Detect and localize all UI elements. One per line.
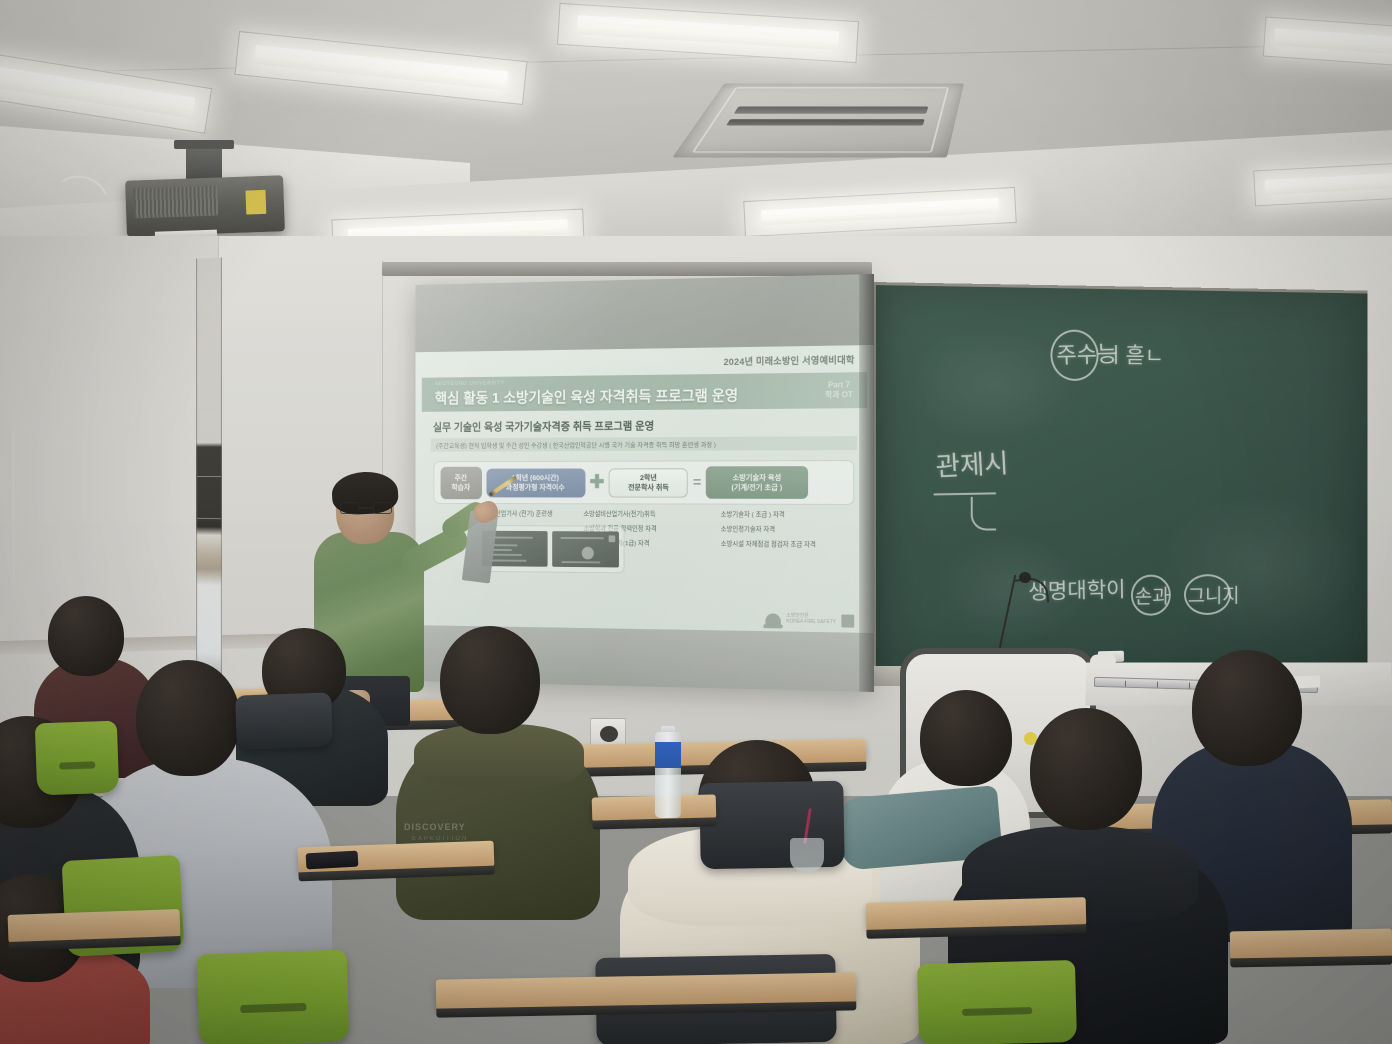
projector-warning-label xyxy=(245,190,266,215)
hoodie-print: DISCOVERY xyxy=(404,822,534,833)
ceiling-projector xyxy=(125,175,285,236)
student-head xyxy=(1192,650,1302,766)
chair-dark-1 xyxy=(235,692,333,749)
flow-box-outcome-line1: 소방기술자 육성 xyxy=(731,473,782,482)
classroom-photo: 관제시 주수능 ㅣ흗ㄴ 생명대학이 손과 그니지 2024년 미래소방인 서영예… xyxy=(0,0,1392,1044)
chair-left-1 xyxy=(35,721,119,796)
chair-left-3 xyxy=(196,949,349,1044)
student-head xyxy=(48,596,124,676)
logo-text: 소방안전원 KOREA FIRE SAFETY xyxy=(786,614,836,626)
desk-front-right xyxy=(866,897,1087,931)
desk-front-mid xyxy=(436,972,856,1009)
slide-title-prefix: 핵심 활동 1 xyxy=(435,391,500,408)
student-head xyxy=(1030,708,1142,830)
slide-note-strip: (주간교육생) 현직 입학생 및 주간 성인 수강생 ( 한국산업인력공단 시행… xyxy=(431,436,857,452)
slide-title: 핵심 활동 1 소방기술인 육성 자격취득 프로그램 운영 xyxy=(435,385,738,408)
flow-box-year2-line2: 전문학사 취득 xyxy=(628,483,669,492)
slide-subheading: 실무 기술인 육성 국가기술자격증 취득 프로그램 운영 xyxy=(433,417,654,434)
detail-column-3: 소방기술자 ( 초급 ) 자격 소방인정기술자 자격 소방시설 자체점검 점검자… xyxy=(721,510,855,569)
slide-university-tag: SEOYEONG UNIVERSITY xyxy=(435,381,505,388)
equals-icon: = xyxy=(693,475,701,490)
flow-box-year1: 1학년 (600시간) 과정평가형 자격이수 xyxy=(486,468,585,497)
slide-header-text: 2024년 미래소방인 서영예비대학 xyxy=(724,353,855,369)
flow-box-year2-line1: 2학년 xyxy=(628,474,669,483)
slide-part-line2: 학과 OT xyxy=(825,391,853,401)
thumbnail-image-2 xyxy=(552,531,619,567)
bottle-label xyxy=(655,742,681,768)
slide-title-main: 소방기술인 육성 자격취득 프로그램 운영 xyxy=(503,388,738,407)
slide-footer-logos: 소방안전원 KOREA FIRE SAFETY xyxy=(765,613,855,627)
detail-line: 소방인정기술자 자격 xyxy=(721,525,855,536)
chalk-note-2b: ㅣ흗ㄴ xyxy=(1106,338,1164,370)
student-head xyxy=(136,660,240,776)
smartphone-on-desk[interactable] xyxy=(306,851,359,870)
chalk-note-5: 그니지 xyxy=(1188,580,1240,609)
slide-flow-diagram: 주간 학습자 1학년 (600시간) 과정평가형 자격이수 ✚ 2학년 xyxy=(433,460,855,505)
student-head xyxy=(440,626,540,734)
slide-screenshot-thumbnails xyxy=(477,525,625,573)
chalk-note-4: 손과 xyxy=(1135,580,1170,609)
desk-right-far xyxy=(1230,929,1392,960)
flow-box-learner-line2: 학습자 xyxy=(451,483,470,492)
logo-text-line2: KOREA FIRE SAFETY xyxy=(786,620,836,627)
chalk-note-1: 관제시 xyxy=(934,442,1009,484)
chair-right-1 xyxy=(917,960,1077,1044)
slide-title-bar: SEOYEONG UNIVERSITY 핵심 활동 1 소방기술인 육성 자격취… xyxy=(422,373,867,413)
flow-box-year1-line2: 과정평가형 자격이수 xyxy=(506,483,565,492)
desk-front-left xyxy=(8,909,181,943)
safety-helmet-icon xyxy=(765,614,780,626)
detail-line: 소방기술자 ( 초급 ) 자격 xyxy=(721,510,855,520)
blind-cord xyxy=(13,430,14,580)
flow-box-learner: 주간 학습자 xyxy=(440,467,481,499)
eyeglasses-icon xyxy=(340,502,392,514)
slide-part-badge: Part 7 학과 OT xyxy=(825,381,853,401)
student-head xyxy=(920,690,1012,786)
presentation-slide: 2024년 미래소방인 서영예비대학 SEOYEONG UNIVERSITY 핵… xyxy=(416,345,874,633)
slide-part-line1: Part 7 xyxy=(825,381,853,391)
desk-mid-right xyxy=(592,794,717,821)
detail-line: 소방시설 자체점검 점검자 초급 자격 xyxy=(721,540,855,551)
flow-box-year2: 2학년 전문학사 취득 xyxy=(609,468,688,497)
detail-line: 소방설비산업기사(전기)취득 xyxy=(583,510,713,520)
partner-logo-icon xyxy=(842,614,855,627)
plus-icon: ✚ xyxy=(590,474,605,492)
flow-box-learner-line1: 주간 xyxy=(451,474,470,483)
slide-note-text: (주간교육생) 현직 입학생 및 주간 성인 수강생 ( 한국산업인력공단 시행… xyxy=(436,439,716,450)
chalkboard: 관제시 주수능 ㅣ흗ㄴ 생명대학이 손과 그니지 xyxy=(872,282,1368,682)
window xyxy=(196,257,222,678)
iced-drink-cup xyxy=(790,838,824,872)
screen-housing xyxy=(382,262,872,276)
flow-box-outcome: 소방기술자 육성 (기계/전기 초급 ) xyxy=(706,466,808,499)
flow-box-outcome-line2: (기계/전기 초급 ) xyxy=(731,483,782,492)
microphone-head-icon xyxy=(1019,572,1031,583)
ceiling-air-conditioner xyxy=(672,83,964,157)
